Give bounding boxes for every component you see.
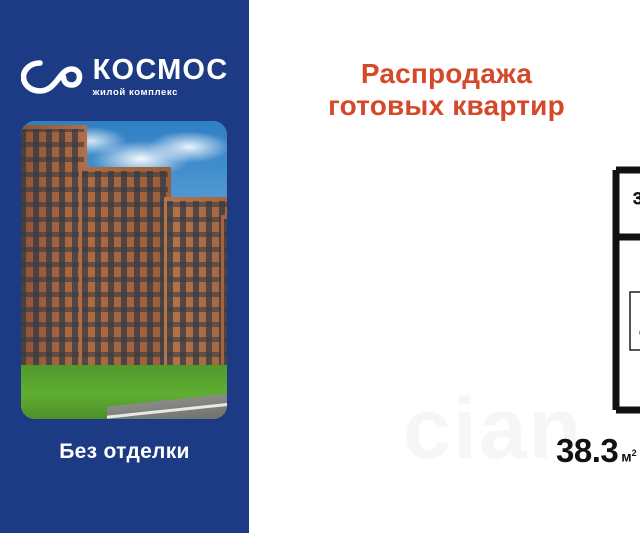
brand-text: КОСМОС жилой комплекс [93,56,229,98]
title-line-2: готовых квартир [328,90,565,121]
building-1 [21,125,87,375]
offer-panel: Распродажа готовых квартир cian [253,0,640,533]
building-4 [221,215,227,375]
infinity-loops-icon [21,60,83,94]
floor-plan: 3.8 3.9 3.9 16.0 9.4 2.5 (1.25) [608,142,640,427]
stat-area: 38.3 м2 [556,432,637,470]
page-title: Распродажа готовых квартир [253,58,640,121]
stat-area-value: 38.3 [556,432,618,470]
listing-card: КОСМОС жилой комплекс Без отделки Распро… [0,0,640,533]
listing-stats: 38.3 м2 1 комната 8 этаж [506,432,640,478]
finish-caption: Без отделки [0,440,249,464]
building-2 [79,167,171,375]
windows-grid [224,219,227,372]
brand-lockup: КОСМОС жилой комплекс [0,56,249,98]
stat-area-unit: м2 [621,448,636,465]
brand-panel: КОСМОС жилой комплекс Без отделки [0,0,249,533]
brand-name: КОСМОС [93,56,229,85]
brand-subtitle: жилой комплекс [93,88,178,98]
building-photo [21,121,227,419]
windows-grid [82,171,168,372]
building-3 [164,197,227,375]
room-area-closet: 3.8 [633,189,640,208]
title-line-1: Распродажа [361,58,532,89]
windows-grid [21,129,84,372]
windows-grid [167,201,227,372]
